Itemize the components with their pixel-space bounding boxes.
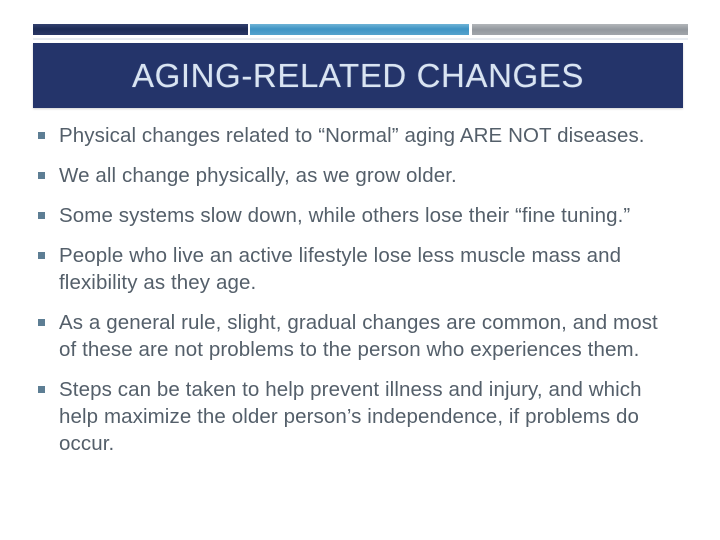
square-bullet-icon (38, 212, 45, 219)
presentation-slide: AGING-RELATED CHANGES Physical changes r… (0, 0, 720, 540)
accent-bar-blue-segment (248, 24, 469, 35)
bullet-text: As a general rule, slight, gradual chang… (59, 309, 679, 363)
square-bullet-icon (38, 386, 45, 393)
accent-bar-navy-segment (33, 24, 248, 35)
list-item: Some systems slow down, while others los… (38, 202, 688, 229)
title-banner: AGING-RELATED CHANGES (33, 43, 683, 108)
accent-bar-underline (33, 38, 688, 40)
bullet-text: Steps can be taken to help prevent illne… (59, 376, 679, 457)
bullet-text: Some systems slow down, while others los… (59, 202, 630, 229)
list-item: Steps can be taken to help prevent illne… (38, 376, 688, 457)
square-bullet-icon (38, 252, 45, 259)
square-bullet-icon (38, 319, 45, 326)
bullet-text: We all change physically, as we grow old… (59, 162, 457, 189)
square-bullet-icon (38, 132, 45, 139)
bullet-text: Physical changes related to “Normal” agi… (59, 122, 645, 149)
list-item: Physical changes related to “Normal” agi… (38, 122, 688, 149)
list-item: People who live an active lifestyle lose… (38, 242, 688, 296)
bullet-text: People who live an active lifestyle lose… (59, 242, 679, 296)
list-item: As a general rule, slight, gradual chang… (38, 309, 688, 363)
list-item: We all change physically, as we grow old… (38, 162, 688, 189)
slide-title: AGING-RELATED CHANGES (132, 57, 584, 95)
accent-bar-gray-segment (469, 24, 688, 35)
bullet-list: Physical changes related to “Normal” agi… (38, 122, 688, 470)
accent-bar (33, 24, 688, 35)
square-bullet-icon (38, 172, 45, 179)
